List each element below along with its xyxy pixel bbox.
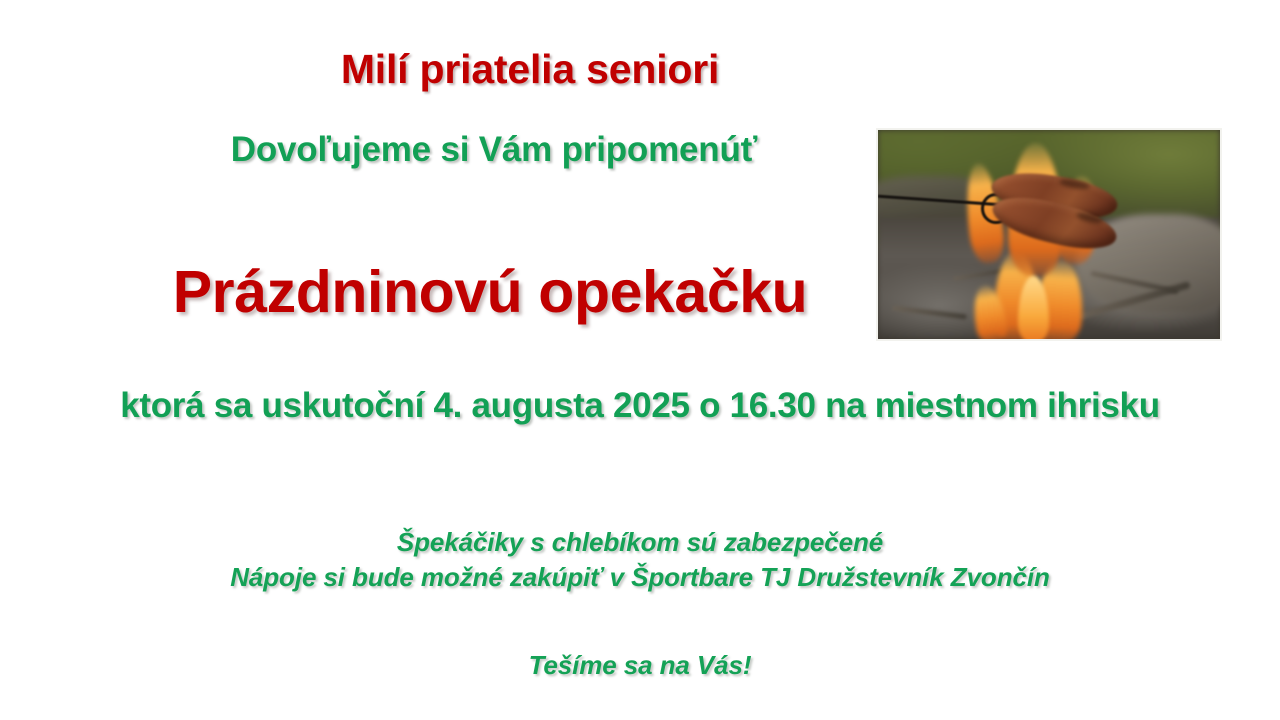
subtitle-reminder: Dovoľujeme si Vám pripomenúť — [0, 130, 988, 170]
page-title: Milí priatelia seniori — [0, 46, 1060, 93]
photo-scene — [878, 130, 1220, 339]
closing-invitation: Tešíme sa na Vás! — [0, 650, 1280, 681]
notes-block: Špekáčiky s chlebíkom sú zabezpečené Náp… — [0, 525, 1280, 596]
note-food: Špekáčiky s chlebíkom sú zabezpečené — [0, 525, 1280, 560]
event-datetime-location: ktorá sa uskutoční 4. augusta 2025 o 16.… — [64, 385, 1216, 428]
campfire-photo — [876, 128, 1222, 341]
note-drinks: Nápoje si bude možné zakúpiť v Športbare… — [0, 560, 1280, 595]
poster-canvas: Milí priatelia seniori Dovoľujeme si Vám… — [0, 0, 1280, 720]
event-name-headline: Prázdninovú opekačku — [0, 258, 980, 326]
